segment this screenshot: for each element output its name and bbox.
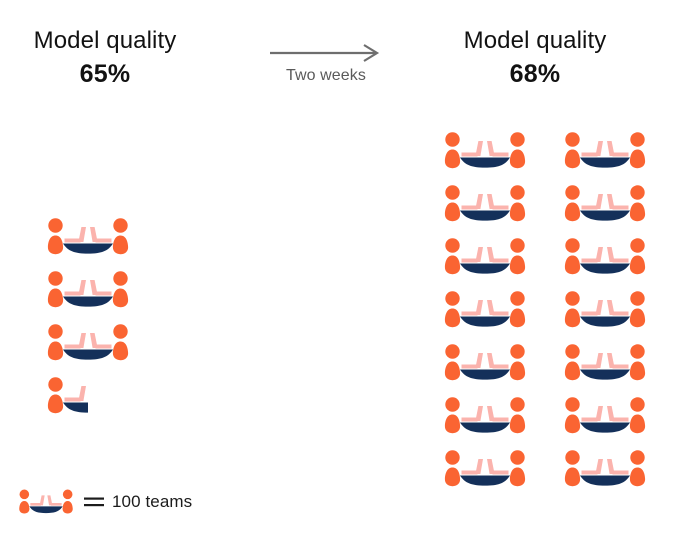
team-boat-pictogram-icon <box>46 216 130 258</box>
team-boat-pictogram-icon <box>443 395 527 437</box>
legend: 100 teams <box>18 487 192 517</box>
right-arrow-icon <box>246 40 406 66</box>
team-boat-pictogram-icon <box>46 375 88 417</box>
team-boat-pictogram-icon <box>443 183 527 225</box>
transition-annotation: Two weeks <box>246 40 406 86</box>
team-boat-pictogram-icon <box>563 183 647 225</box>
equals-icon <box>84 495 104 509</box>
team-boat-pictogram-icon <box>563 289 647 331</box>
team-boat-pictogram-icon <box>563 342 647 384</box>
team-boat-pictogram-icon <box>563 448 647 490</box>
team-boat-pictogram-icon <box>443 448 527 490</box>
team-boat-pictogram-icon <box>563 236 647 278</box>
infographic-canvas: Model quality 65% Two weeks Model qualit… <box>0 0 677 535</box>
transition-caption: Two weeks <box>246 66 406 86</box>
team-boat-pictogram-icon <box>563 130 647 172</box>
team-boat-pictogram-icon <box>443 236 527 278</box>
legend-label: 100 teams <box>112 491 192 513</box>
right-metric-label: Model quality <box>430 26 640 56</box>
left-metric-label: Model quality <box>0 26 210 56</box>
team-boat-pictogram-icon <box>46 322 130 364</box>
left-panel-title: Model quality 65% <box>0 26 210 90</box>
team-boat-pictogram-icon <box>563 395 647 437</box>
team-boat-pictogram-icon <box>443 130 527 172</box>
right-metric-value: 68% <box>430 58 640 90</box>
right-panel-title: Model quality 68% <box>430 26 640 90</box>
team-boat-pictogram-icon <box>46 269 130 311</box>
left-metric-value: 65% <box>0 58 210 90</box>
team-boat-pictogram-icon <box>443 289 527 331</box>
team-boat-pictogram-icon <box>443 342 527 384</box>
legend-team-boat-pictogram-icon <box>18 488 74 516</box>
